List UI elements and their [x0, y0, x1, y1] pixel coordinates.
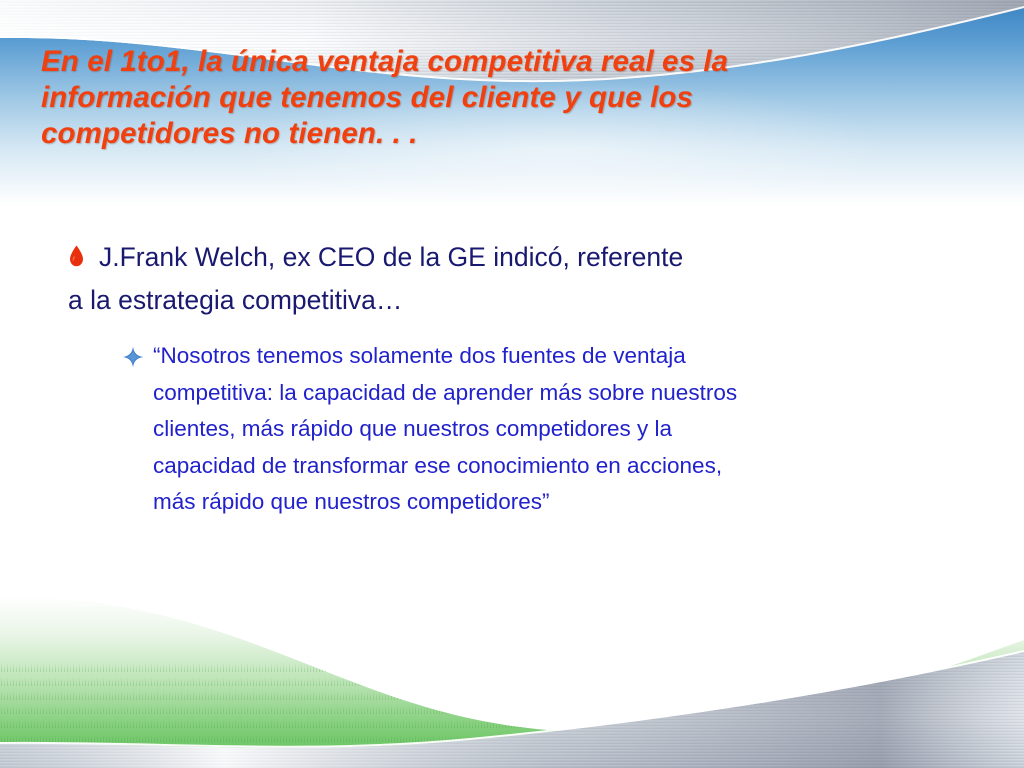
slide-body: J.Frank Welch, ex CEO de la GE indicó, r…: [0, 236, 1024, 521]
bullet-item-level2: “Nosotros tenemos solamente dos fuentes …: [122, 338, 982, 521]
bullet-item-level1: J.Frank Welch, ex CEO de la GE indicó, r…: [68, 236, 948, 322]
bullet-level2-line-1: “Nosotros tenemos solamente dos fuentes …: [153, 338, 982, 375]
title-line-3: competidores no tienen. . .: [41, 116, 941, 152]
bullet-level2-line-3: clientes, más rápido que nuestros compet…: [153, 411, 982, 448]
bullet-level2-text: “Nosotros tenemos solamente dos fuentes …: [153, 338, 982, 521]
slide-title: En el 1to1, la única ventaja competitiva…: [41, 44, 941, 152]
slide-canvas: En el 1to1, la única ventaja competitiva…: [0, 0, 1024, 768]
title-line-1: En el 1to1, la única ventaja competitiva…: [41, 44, 941, 80]
bullet-level1-line-2: a la estrategia competitiva…: [68, 279, 948, 322]
bullet-level2-line-2: competitiva: la capacidad de aprender má…: [153, 375, 982, 412]
bullet-level2-line-5: más rápido que nuestros competidores”: [153, 484, 982, 521]
four-point-star-bullet-icon: [122, 346, 144, 368]
bullet-level2-line-4: capacidad de transformar ese conocimient…: [153, 448, 982, 485]
bullet-level1-line-1: J.Frank Welch, ex CEO de la GE indicó, r…: [68, 236, 948, 279]
water-drop-bullet-icon: [68, 245, 85, 267]
title-line-2: información que tenemos del cliente y qu…: [41, 80, 941, 116]
